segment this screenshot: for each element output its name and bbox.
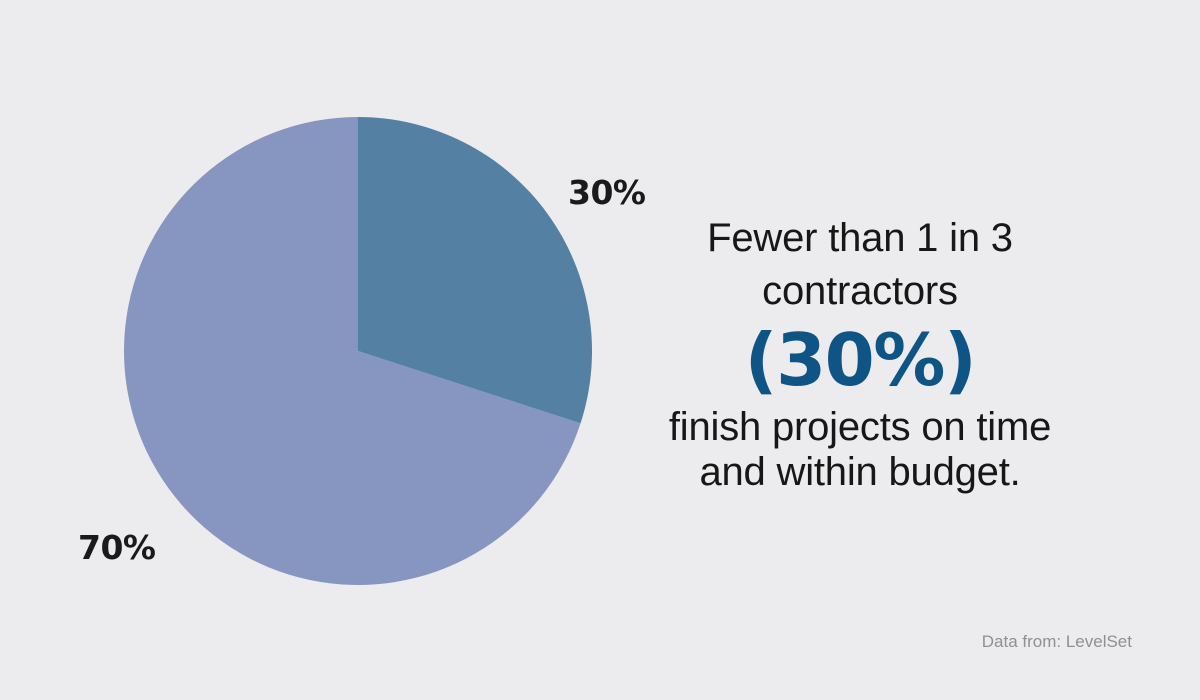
callout-tail-line-2: and within budget. [620, 450, 1100, 495]
callout-tail-line-1: finish projects on time [620, 405, 1100, 450]
pie-slice-label-30: 30% [568, 173, 646, 212]
callout-statistic: (30%) [620, 320, 1100, 401]
source-attribution: Data from: LevelSet [982, 632, 1132, 652]
pie-chart-svg [0, 0, 700, 700]
pie-slice-label-70: 70% [78, 528, 156, 567]
callout-lead-text: Fewer than 1 in 3 contractors [620, 212, 1100, 318]
callout-lead-line-1: Fewer than 1 in 3 [620, 212, 1100, 265]
callout-lead-line-2: contractors [620, 265, 1100, 318]
callout-text-block: Fewer than 1 in 3 contractors (30%) fini… [620, 212, 1100, 495]
infographic-canvas: 30% 70% Fewer than 1 in 3 contractors (3… [0, 0, 1200, 700]
pie-chart: 30% 70% [0, 0, 700, 700]
callout-tail-text: finish projects on time and within budge… [620, 405, 1100, 495]
